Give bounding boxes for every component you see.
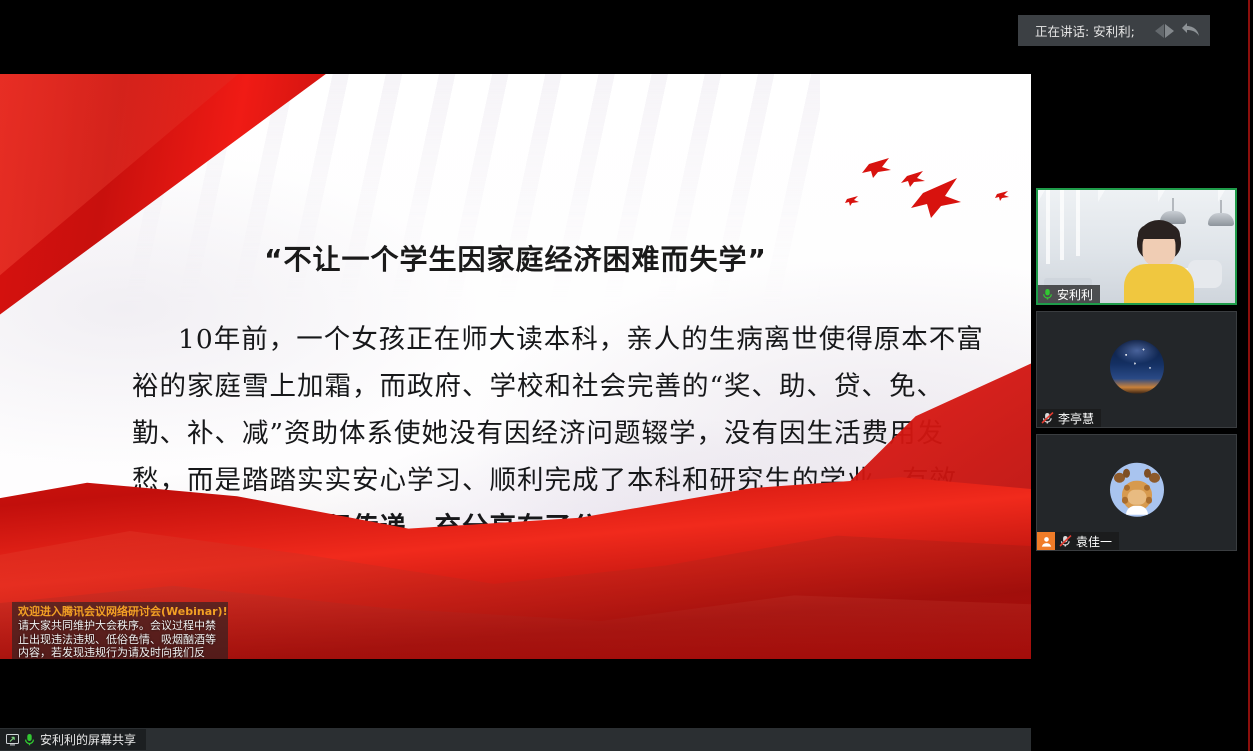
slide-title: “不让一个学生因家庭经济困难而失学” (0, 238, 1031, 278)
participant-label-2: 袁佳一 (1037, 532, 1119, 550)
participant-name-chip-1: 李亭慧 (1037, 409, 1101, 427)
rail-actions (1152, 15, 1202, 46)
participant-name-0: 安利利 (1057, 286, 1093, 303)
participant-avatar-1 (1110, 339, 1164, 393)
screen-share-label: 安利利的屏幕共享 (40, 731, 136, 748)
letterbox-bottom (0, 659, 1031, 728)
birds-svg (845, 156, 1025, 246)
red-birds-decoration (845, 156, 1025, 246)
microphone-on-icon (1042, 288, 1053, 300)
participant-avatar-2 (1110, 462, 1164, 516)
screen-share-icon (6, 734, 19, 746)
tencent-meeting-window: “不让一个学生因家庭经济困难而失学” 10年前，一个女孩正在师大读本科，亲人的生… (0, 0, 1253, 751)
ceiling-lamp-2 (1208, 200, 1234, 228)
participant-person-0 (1114, 220, 1204, 305)
participant-label-0: 安利利 (1038, 285, 1100, 303)
participant-name-1: 李亭慧 (1058, 410, 1094, 427)
letterbox-top (0, 0, 1031, 74)
return-icon[interactable] (1182, 22, 1202, 40)
slide-body-line-3: 勤、补、减”资助体系使她没有因经济问题辍学，没有因生活费用发 (132, 410, 932, 457)
presentation-slide: “不让一个学生因家庭经济困难而失学” 10年前，一个女孩正在师大读本科，亲人的生… (0, 74, 1031, 659)
notice-body: 请大家共同维护大会秩序。会议过程中禁止出现违法违规、低俗色情、吸烟酗酒等内容，若… (18, 619, 223, 659)
participant-tile-1[interactable]: 李亭慧 (1036, 311, 1237, 428)
active-speaker-label: 正在讲话: 安利利; (1035, 21, 1135, 40)
participant-name-2: 袁佳一 (1076, 533, 1112, 550)
host-person-icon (1037, 532, 1055, 550)
participant-name-chip-2: 袁佳一 (1055, 532, 1119, 550)
participant-label-1: 李亭慧 (1037, 409, 1101, 427)
webinar-notice-toast: 欢迎进入腾讯会议网络研讨会(Webinar)! 请大家共同维护大会秩序。会议过程… (12, 602, 228, 659)
screen-share-indicator[interactable]: 安利利的屏幕共享 (0, 729, 146, 750)
microphone-muted-icon (1059, 535, 1072, 547)
slide-body-line-2: 裕的家庭雪上加霜，而政府、学校和社会完善的“奖、助、贷、免、 (132, 363, 932, 410)
microphone-muted-icon (1041, 412, 1054, 424)
participant-rail: 正在讲话: 安利利; (1031, 0, 1253, 751)
microphone-on-icon (24, 733, 35, 746)
active-speaker-bar: 正在讲话: 安利利; (1018, 15, 1210, 46)
participant-tile-2[interactable]: 袁佳一 (1036, 434, 1237, 551)
participant-tile-0[interactable]: 安利利 (1036, 188, 1237, 305)
participant-name-chip-0: 安利利 (1038, 285, 1100, 303)
slide-body-line-1: 10年前，一个女孩正在师大读本科，亲人的生病离世使得原本不富 (132, 316, 932, 363)
collapse-panel-icon[interactable] (1152, 22, 1178, 40)
bottom-status-bar: 安利利的屏幕共享 (0, 728, 1031, 751)
shared-screen-stage[interactable]: “不让一个学生因家庭经济困难而失学” 10年前，一个女孩正在师大读本科，亲人的生… (0, 0, 1031, 728)
notice-title: 欢迎进入腾讯会议网络研讨会(Webinar)! (18, 605, 223, 619)
rail-right-edge (1248, 0, 1250, 751)
